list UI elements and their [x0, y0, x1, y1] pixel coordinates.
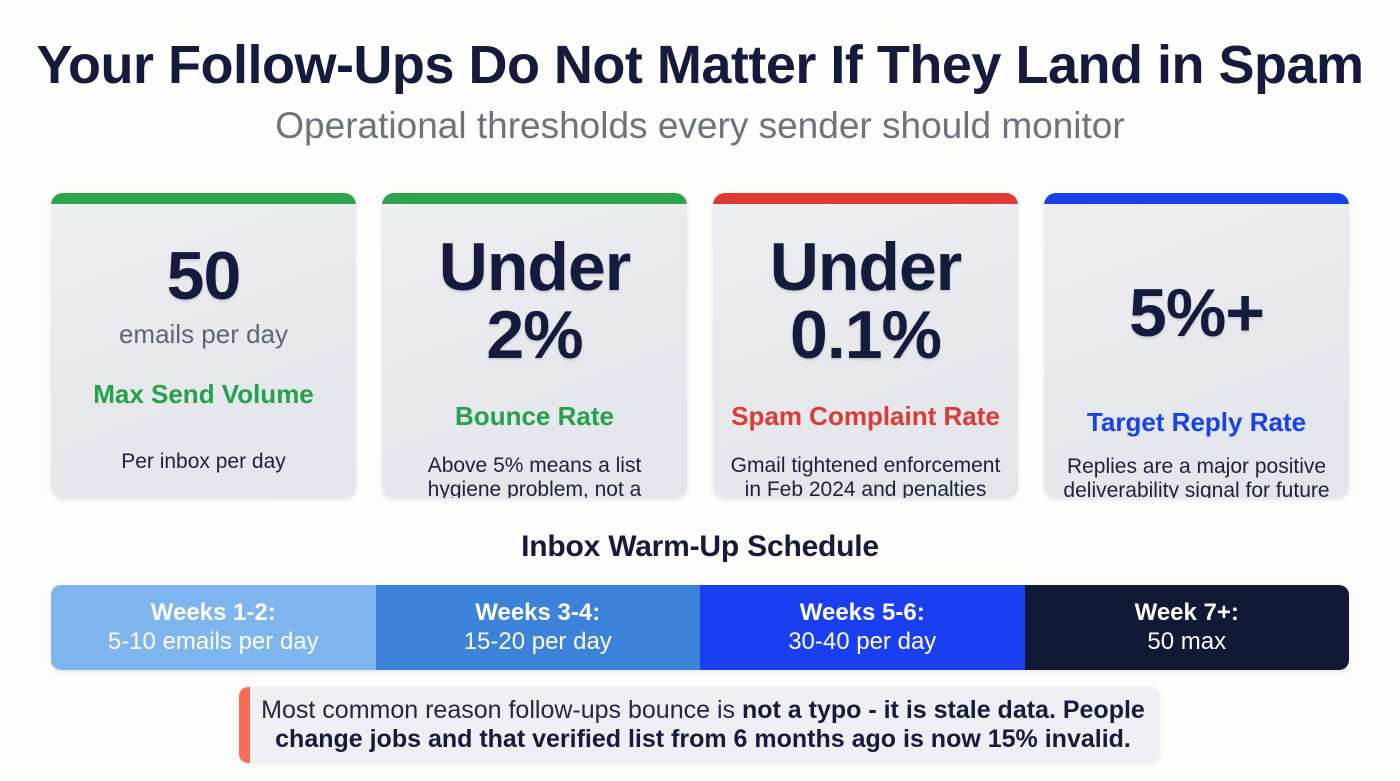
card-note: Gmail tightened enforcement in Feb 2024 …	[727, 454, 1004, 498]
page-subtitle: Operational thresholds every sender shou…	[0, 106, 1400, 147]
card-body: 50 emails per day Max Send Volume Per in…	[65, 193, 342, 498]
callout-text-normal: Most common reason follow-ups bounce is	[261, 696, 742, 724]
card-label: Bounce Rate	[455, 401, 614, 432]
card-value: 5%+	[1129, 279, 1264, 347]
card-accent-bar	[1044, 193, 1349, 204]
card-body: 5%+ Target Reply Rate Replies are a majo…	[1058, 193, 1335, 498]
page-title: Your Follow-Ups Do Not Matter If They La…	[0, 36, 1400, 94]
infographic-page: Your Follow-Ups Do Not Matter If They La…	[0, 0, 1400, 781]
segment-detail: 50 max	[1147, 628, 1226, 656]
card-value: Under 0.1%	[770, 233, 961, 369]
stat-card-spam-complaint-rate: Under 0.1% Spam Complaint Rate Gmail tig…	[713, 193, 1018, 498]
segment-title: Weeks 5-6:	[800, 599, 925, 627]
callout-text: Most common reason follow-ups bounce is …	[250, 696, 1160, 755]
card-note: Per inbox per day	[121, 450, 286, 474]
schedule-heading: Inbox Warm-Up Schedule	[0, 530, 1400, 564]
card-value: 50	[167, 242, 241, 310]
card-body: Under 0.1% Spam Complaint Rate Gmail tig…	[727, 193, 1004, 498]
card-body: Under 2% Bounce Rate Above 5% means a li…	[396, 193, 673, 498]
schedule-segment-weeks-3-4: Weeks 3-4: 15-20 per day	[376, 585, 701, 670]
card-accent-bar	[713, 193, 1018, 204]
stat-card-grid: 50 emails per day Max Send Volume Per in…	[51, 193, 1349, 498]
card-accent-bar	[51, 193, 356, 204]
stat-card-target-reply-rate: 5%+ Target Reply Rate Replies are a majo…	[1044, 193, 1349, 498]
stat-card-bounce-rate: Under 2% Bounce Rate Above 5% means a li…	[382, 193, 687, 498]
card-label: Max Send Volume	[93, 379, 314, 410]
card-value: Under 2%	[439, 233, 630, 369]
card-label: Target Reply Rate	[1087, 407, 1306, 438]
segment-detail: 5-10 emails per day	[108, 628, 319, 656]
card-note: Replies are a major positive deliverabil…	[1058, 455, 1335, 498]
segment-detail: 15-20 per day	[464, 628, 612, 656]
card-note: Above 5% means a list hygiene problem, n…	[396, 454, 673, 498]
card-unit: emails per day	[119, 318, 288, 351]
stat-card-max-send-volume: 50 emails per day Max Send Volume Per in…	[51, 193, 356, 498]
segment-title: Weeks 1-2:	[151, 599, 276, 627]
callout-box: Most common reason follow-ups bounce is …	[239, 687, 1160, 763]
warmup-schedule-bar: Weeks 1-2: 5-10 emails per day Weeks 3-4…	[51, 585, 1349, 670]
card-label: Spam Complaint Rate	[731, 401, 1000, 432]
header: Your Follow-Ups Do Not Matter If They La…	[0, 0, 1400, 147]
card-accent-bar	[382, 193, 687, 204]
segment-title: Week 7+:	[1135, 599, 1239, 627]
segment-detail: 30-40 per day	[788, 628, 936, 656]
schedule-segment-weeks-1-2: Weeks 1-2: 5-10 emails per day	[51, 585, 376, 670]
schedule-segment-week-7-plus: Week 7+: 50 max	[1025, 585, 1350, 670]
schedule-segment-weeks-5-6: Weeks 5-6: 30-40 per day	[700, 585, 1025, 670]
callout-accent-bar	[239, 687, 250, 763]
segment-title: Weeks 3-4:	[475, 599, 600, 627]
